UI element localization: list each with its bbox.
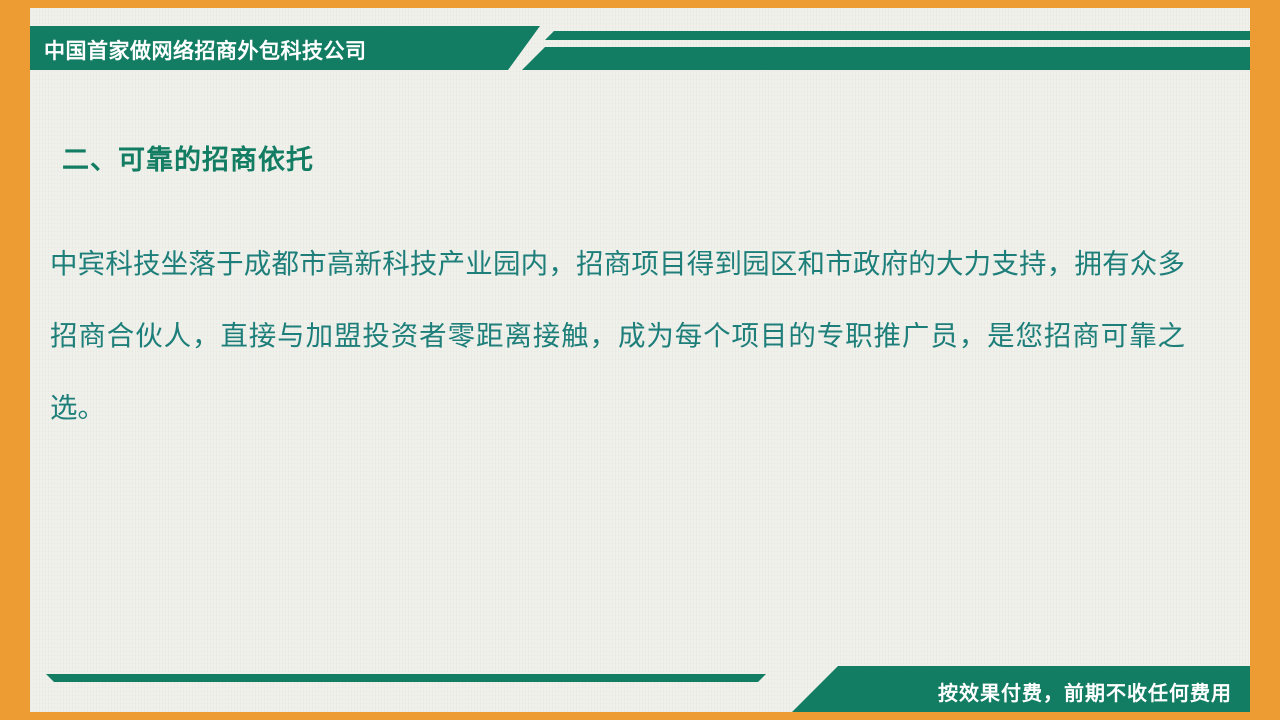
presentation-slide: 中国首家做网络招商外包科技公司 二、可靠的招商依托 中宾科技坐落于成都市高新科技… <box>0 0 1280 720</box>
header-title: 中国首家做网络招商外包科技公司 <box>44 35 367 65</box>
section-heading: 二、可靠的招商依托 <box>62 138 314 177</box>
body-paragraph: 中宾科技坐落于成都市高新科技产业园内，招商项目得到园区和市政府的大力支持，拥有众… <box>50 228 1185 444</box>
footer-accent-line <box>46 674 766 682</box>
header-accent-bar-bottom <box>522 47 1250 70</box>
slide-footer: 按效果付费，前期不收任何费用 <box>30 652 1250 712</box>
footer-tagline: 按效果付费，前期不收任何费用 <box>938 677 1232 706</box>
slide-header: 中国首家做网络招商外包科技公司 <box>30 26 1250 74</box>
header-accent-bar-top <box>545 31 1250 40</box>
